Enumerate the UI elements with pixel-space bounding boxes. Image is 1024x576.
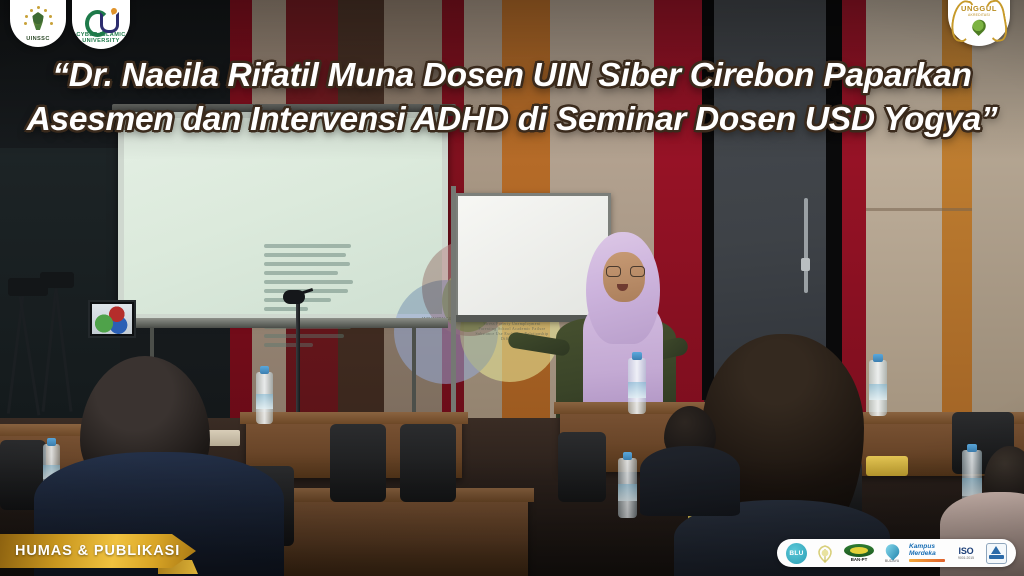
door-lock xyxy=(801,258,810,271)
bottle-label xyxy=(869,384,887,400)
chair-5 xyxy=(558,432,606,502)
table-foreground xyxy=(256,496,528,576)
water-bottle-6 xyxy=(618,452,637,518)
ciu-logo-caption-line2: UNIVERSITY xyxy=(82,38,120,44)
press-photo-overlay: GENETIC INDIVIDUAL ADHD SOCIAL ENVIRONME… xyxy=(0,0,1024,576)
humas-publikasi-ribbon: HUMAS & PUBLIKASI xyxy=(0,534,196,568)
accreditation-badge-bar: BLU BAN-PT BUDAYA Kampus Merdeka ISO 900… xyxy=(777,539,1016,567)
water-bottle-4 xyxy=(869,354,887,416)
projection-screen-leg-right xyxy=(412,328,416,424)
bottle-label xyxy=(256,394,273,409)
blu-badge: BLU xyxy=(786,543,807,564)
unggul-badge-subtitle: AKREDITASI xyxy=(951,13,1007,17)
bottle-label xyxy=(628,382,646,398)
ban-pt-badge-label: BAN-PT xyxy=(851,557,868,562)
certification-mark-icon xyxy=(986,543,1007,564)
kampus-merdeka-badge: Kampus Merdeka xyxy=(909,543,947,564)
monitor-screen-content xyxy=(92,304,132,334)
kampus-merdeka-underline xyxy=(909,559,945,562)
eyeglasses-left-lens xyxy=(606,266,621,277)
iso-badge-caption: 9001:2015 xyxy=(958,556,974,560)
bottle-cap xyxy=(873,354,882,362)
leaf-badge xyxy=(813,543,837,564)
kampus-merdeka-label-bottom: Merdeka xyxy=(909,551,936,558)
preview-monitor xyxy=(88,300,136,338)
unggul-badge-word: UNGGUL xyxy=(951,4,1007,13)
bottle-cap xyxy=(47,438,56,446)
video-camera-2 xyxy=(40,272,74,288)
bottle-cap xyxy=(632,352,641,360)
eyeglasses-right-lens xyxy=(630,266,645,277)
page-title: “Dr. Naeila Rifatil Muna Dosen UIN Siber… xyxy=(0,54,1024,142)
uinssc-logo-caption: UINSSC xyxy=(26,36,50,42)
iso-badge: ISO 9001:2015 xyxy=(953,543,979,564)
table-mid-left-top xyxy=(240,412,468,424)
ban-pt-badge: BAN-PT xyxy=(843,543,875,564)
bottle-cap xyxy=(623,452,633,460)
whiteboard-stand-left xyxy=(451,186,456,426)
ban-pt-emblem-icon xyxy=(844,544,874,557)
uinssc-emblem-icon xyxy=(23,6,53,36)
certification-badge xyxy=(985,543,1007,564)
chair-2 xyxy=(400,424,456,502)
water-drop-icon xyxy=(882,541,901,560)
blu-badge-label: BLU xyxy=(789,550,803,557)
door-handle xyxy=(804,198,808,293)
projection-screen-surface: GENETIC INDIVIDUAL ADHD SOCIAL ENVIRONME… xyxy=(124,118,442,314)
headline-line-1: “Dr. Naeila Rifatil Muna Dosen UIN Siber… xyxy=(8,54,1016,98)
iso-badge-label: ISO xyxy=(959,547,974,556)
ribbon-label: HUMAS & PUBLIKASI xyxy=(15,543,180,559)
ciu-monogram-icon xyxy=(84,8,118,32)
torso xyxy=(640,446,740,516)
leaf-icon xyxy=(813,543,837,564)
snack-tray-1 xyxy=(866,456,908,476)
microphone xyxy=(283,290,305,304)
water-bottle-1 xyxy=(256,366,273,424)
water-bottle-3 xyxy=(628,352,646,414)
slide-body-text xyxy=(264,244,359,352)
bottle-cap xyxy=(967,444,977,452)
wall-trim-line xyxy=(866,208,972,211)
projection-screen-bottom-bar xyxy=(118,318,448,328)
speaker-face xyxy=(603,252,645,302)
water-drop-badge: BUDAYA xyxy=(881,543,903,564)
headline-line-2: Asesmen dan Intervensi ADHD di Seminar D… xyxy=(8,98,1016,142)
bottle-cap xyxy=(260,366,269,374)
unggul-badge: UNGGUL AKREDITASI xyxy=(948,0,1010,46)
bottle-label xyxy=(618,484,637,501)
chair-1 xyxy=(330,424,386,502)
